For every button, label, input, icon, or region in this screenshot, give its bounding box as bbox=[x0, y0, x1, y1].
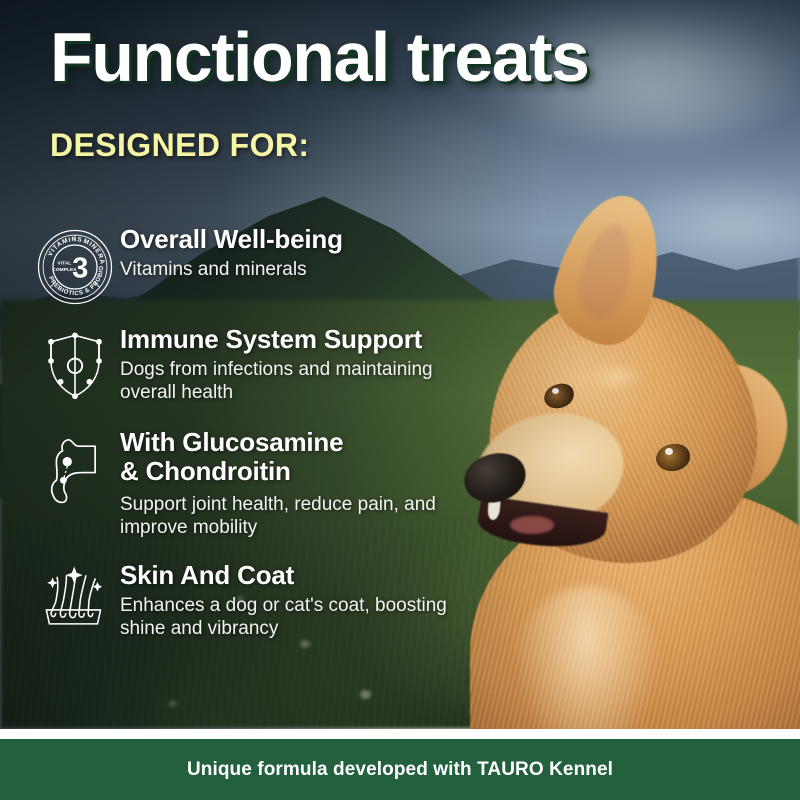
feature-item-skin-and-coat: Skin And Coat Enhances a dog or cat's co… bbox=[30, 561, 530, 640]
feature-heading: Overall Well-being bbox=[120, 225, 530, 254]
feature-heading: With Glucosamine & Chondroitin bbox=[120, 428, 530, 485]
feature-icon-slot bbox=[30, 561, 120, 627]
feature-text: Overall Well-being Vitamins and minerals bbox=[120, 225, 530, 281]
joint-bone-icon bbox=[44, 432, 106, 510]
feature-item-overall-wellbeing: VITAMINS MINERALS PREBIOTICS & PROBIOTIC… bbox=[30, 225, 530, 305]
page-title: Functional treats bbox=[50, 22, 588, 92]
subtitle-designed-for: DESIGNED FOR: bbox=[50, 127, 309, 164]
feature-text: Skin And Coat Enhances a dog or cat's co… bbox=[120, 561, 530, 640]
feature-heading-line2: & Chondroitin bbox=[120, 456, 291, 486]
feature-icon-slot bbox=[30, 428, 120, 510]
vital-complex-3-badge-icon: VITAMINS MINERALS PREBIOTICS & PROBIOTIC… bbox=[37, 229, 113, 305]
white-divider bbox=[0, 729, 800, 739]
feature-item-immune-support: Immune System Support Dogs from infectio… bbox=[30, 325, 530, 404]
feature-heading: Skin And Coat bbox=[120, 561, 530, 590]
feature-description: Vitamins and minerals bbox=[120, 258, 480, 281]
footer-text: Unique formula developed with TAURO Kenn… bbox=[187, 759, 613, 781]
footer-banner: Unique formula developed with TAURO Kenn… bbox=[0, 739, 800, 800]
feature-heading: Immune System Support bbox=[120, 325, 530, 354]
svg-text:VITAL: VITAL bbox=[57, 261, 71, 267]
feature-text: With Glucosamine & Chondroitin Support j… bbox=[120, 428, 530, 540]
feature-icon-slot bbox=[30, 325, 120, 401]
feature-icon-slot: VITAMINS MINERALS PREBIOTICS & PROBIOTIC… bbox=[30, 225, 120, 305]
feature-item-glucosamine: With Glucosamine & Chondroitin Support j… bbox=[30, 428, 530, 540]
svg-text:COMPLEX: COMPLEX bbox=[52, 267, 77, 273]
poster-content: Functional treats DESIGNED FOR: bbox=[0, 0, 800, 729]
product-feature-poster: Functional treats DESIGNED FOR: bbox=[0, 0, 800, 800]
feature-description: Dogs from infections and maintaining ove… bbox=[120, 358, 472, 404]
hair-follicle-sparkle-icon bbox=[40, 565, 110, 627]
feature-text: Immune System Support Dogs from infectio… bbox=[120, 325, 530, 404]
feature-heading-line1: With Glucosamine bbox=[120, 427, 343, 457]
shield-icon bbox=[43, 329, 107, 401]
feature-list: VITAMINS MINERALS PREBIOTICS & PROBIOTIC… bbox=[30, 225, 530, 640]
feature-description: Support joint health, reduce pain, and i… bbox=[120, 493, 476, 539]
feature-description: Enhances a dog or cat's coat, boosting s… bbox=[120, 594, 488, 640]
